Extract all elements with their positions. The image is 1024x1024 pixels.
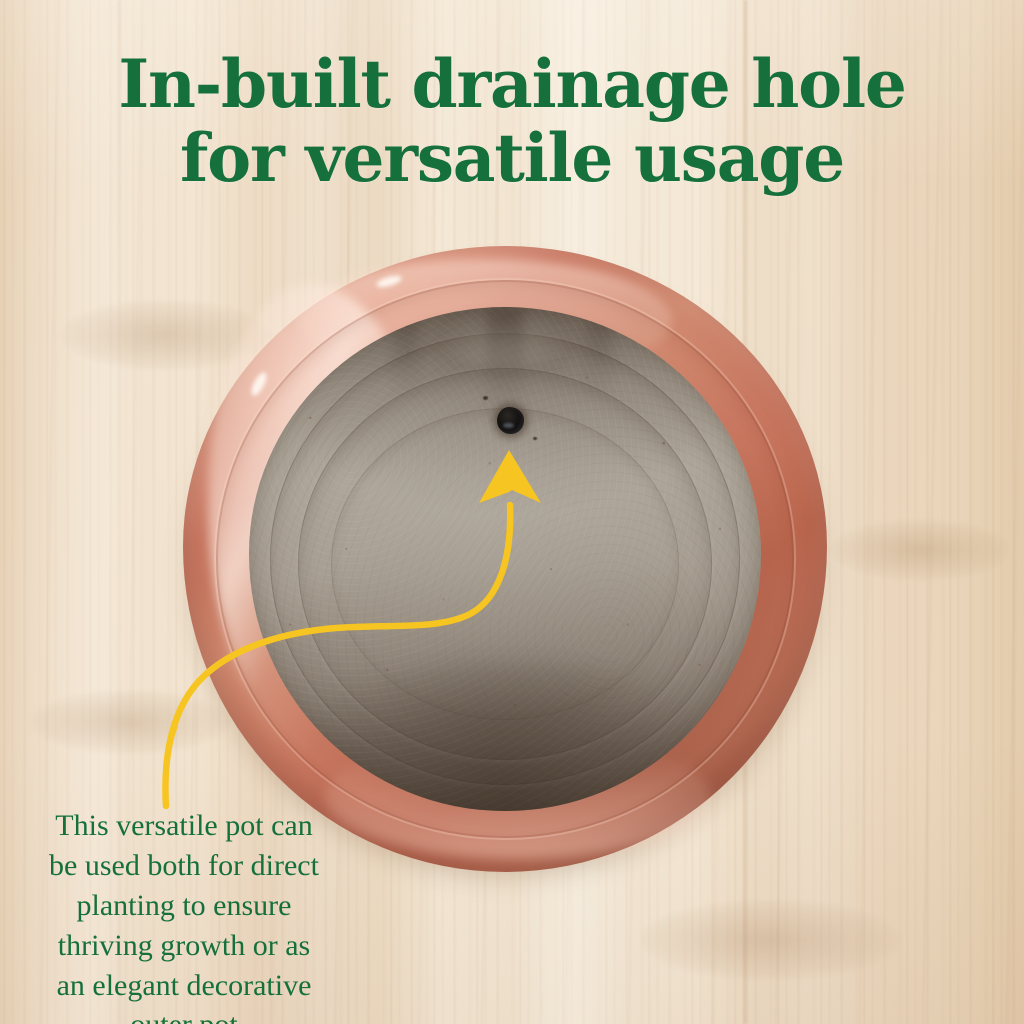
clay-fleck bbox=[533, 437, 537, 440]
page-title: In-built drainage hole for versatile usa… bbox=[0, 48, 1024, 196]
promo-image-canvas: In-built drainage hole for versatile usa… bbox=[0, 0, 1024, 1024]
caption-line-1: This versatile pot can bbox=[14, 806, 354, 846]
drainage-hole-bore bbox=[497, 407, 524, 434]
interior-crease-right bbox=[587, 312, 613, 398]
caption-line-5: an elegant decorative bbox=[14, 966, 354, 1006]
caption-line-2: be used both for direct bbox=[14, 846, 354, 886]
caption-text: This versatile pot can be used both for … bbox=[14, 806, 354, 1024]
interior-crease-left bbox=[393, 312, 419, 398]
clay-fleck bbox=[483, 396, 488, 400]
headline-line-2: for versatile usage bbox=[0, 122, 1024, 196]
caption-line-6: outer pot bbox=[14, 1005, 354, 1024]
caption-line-4: thriving growth or as bbox=[14, 926, 354, 966]
pot-outer-rim bbox=[183, 246, 827, 872]
drainage-hole bbox=[497, 407, 524, 434]
headline-line-1: In-built drainage hole bbox=[0, 48, 1024, 122]
pot-interior bbox=[249, 307, 760, 810]
caption-line-3: planting to ensure bbox=[14, 886, 354, 926]
plant-pot bbox=[183, 246, 827, 872]
wood-knot bbox=[830, 520, 1010, 580]
wood-knot bbox=[640, 900, 900, 980]
